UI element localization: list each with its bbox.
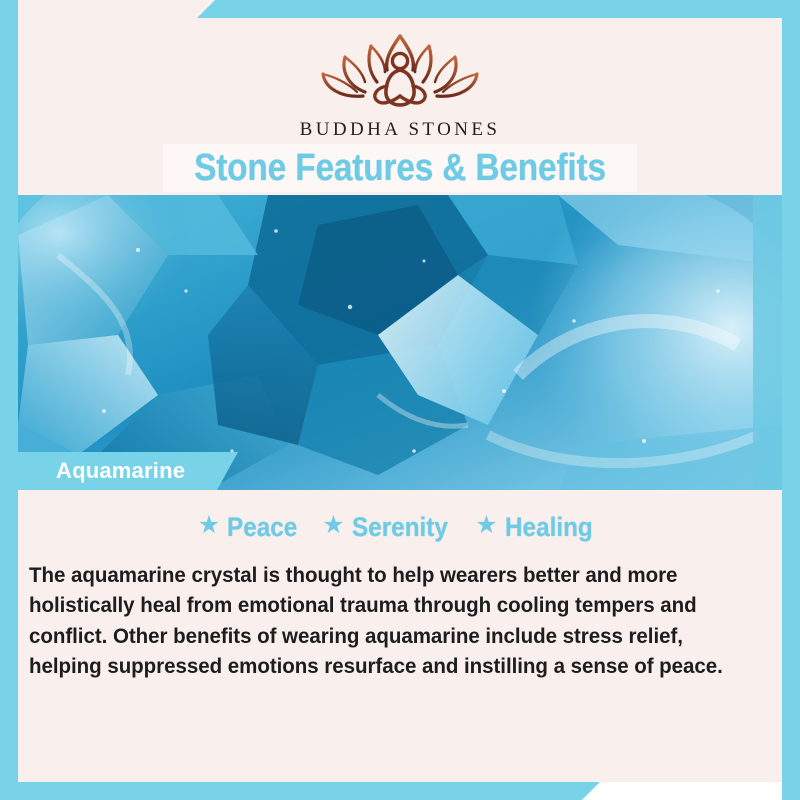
benefit-label: Healing <box>505 512 593 543</box>
benefit-item-healing: ★ Healing <box>475 512 602 543</box>
frame-left-accent <box>0 0 18 800</box>
content-canvas: BUDDHA STONES <box>18 18 782 782</box>
star-icon: ★ <box>322 513 344 538</box>
brand-name: BUDDHA STONES <box>300 119 501 141</box>
stone-name: Aquamarine <box>56 458 185 484</box>
star-icon: ★ <box>198 513 220 538</box>
benefits-row: ★ Peace ★ Serenity ★ Healing <box>18 512 782 543</box>
benefit-item-peace: ★ Peace <box>198 512 306 543</box>
infographic-page: BUDDHA STONES <box>0 0 800 800</box>
benefit-label: Peace <box>227 512 297 543</box>
star-icon: ★ <box>475 513 497 538</box>
frame-top-accent <box>0 0 800 18</box>
crystal-photo <box>18 195 782 490</box>
stone-description: The aquamarine crystal is thought to hel… <box>29 560 741 681</box>
page-title-banner: Stone Features & Benefits <box>163 144 637 192</box>
frame-right-accent <box>782 0 800 800</box>
lotus-meditation-icon <box>305 30 495 114</box>
page-title: Stone Features & Benefits <box>194 147 606 190</box>
benefit-label: Serenity <box>352 512 448 543</box>
stone-name-banner: Aquamarine <box>18 452 238 490</box>
benefit-item-serenity: ★ Serenity <box>322 512 458 543</box>
